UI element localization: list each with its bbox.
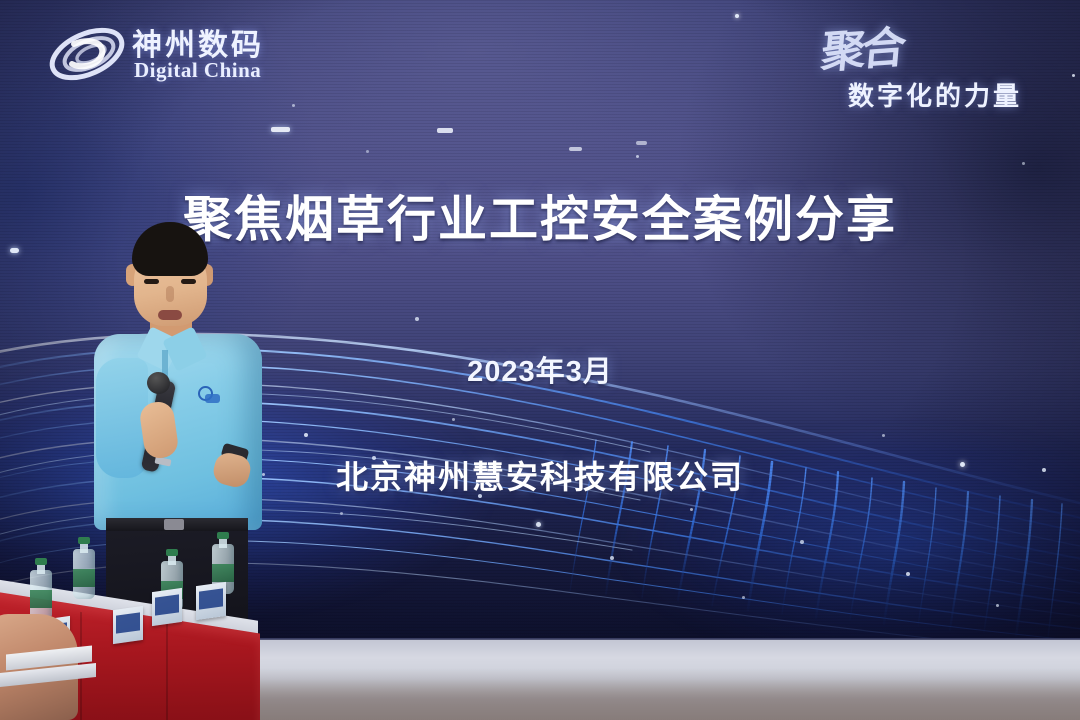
name-card [196, 582, 226, 620]
event-calligraphy: 聚合 [819, 11, 905, 80]
speaker-mouth [158, 310, 182, 320]
name-card [152, 588, 182, 626]
name-card [113, 606, 143, 644]
speaker-belt-buckle [164, 519, 184, 530]
water-bottle [30, 558, 52, 620]
event-tagline: 数字化的力量 [848, 76, 1022, 113]
speaker-eye-right [181, 279, 196, 284]
conference-photo: 神州数码 Digital China 聚合 数字化的力量 聚焦烟草行业工控安全案… [0, 0, 1080, 720]
speaker-nose [166, 286, 174, 302]
speaker-eye-left [144, 279, 159, 284]
digital-china-logo: 神州数码 Digital China [46, 22, 306, 88]
speaker-hair [132, 222, 208, 276]
chest-logo-icon [198, 386, 222, 406]
event-lockup: 聚合 数字化的力量 [812, 14, 1064, 114]
water-bottle [73, 537, 95, 599]
logo-english-name: Digital China [134, 58, 261, 83]
spiral-swoosh-icon [46, 24, 128, 84]
skirt-fold [166, 612, 168, 720]
